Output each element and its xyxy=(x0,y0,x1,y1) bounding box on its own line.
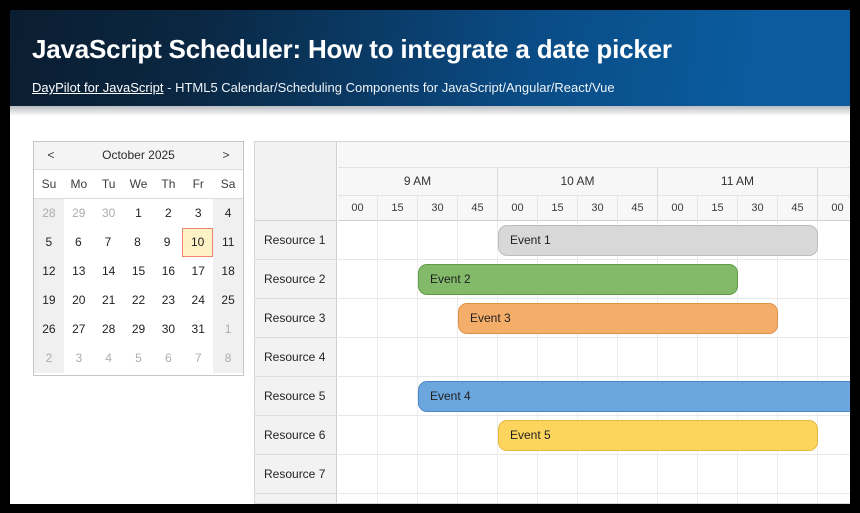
banner-separator: - xyxy=(164,80,176,95)
date-cell-selected[interactable]: 10 xyxy=(182,228,214,257)
scheduler-event[interactable]: Event 1 xyxy=(498,225,818,256)
next-month-icon[interactable]: > xyxy=(213,142,239,168)
date-cell[interactable]: 4 xyxy=(213,199,243,228)
date-cell[interactable]: 7 xyxy=(183,344,213,373)
date-cell[interactable]: 29 xyxy=(124,315,154,344)
date-cell[interactable]: 20 xyxy=(64,286,94,315)
time-header-minutes: 00153045001530450015304500 xyxy=(338,196,850,221)
minute-header-cell: 00 xyxy=(818,196,850,221)
resource-row-header[interactable]: Resource 7 xyxy=(255,455,336,494)
date-cell[interactable]: 24 xyxy=(183,286,213,315)
minute-header-cell: 15 xyxy=(378,196,418,221)
date-cell[interactable]: 27 xyxy=(64,315,94,344)
day-name-th: Th xyxy=(153,170,183,198)
minute-header-cell: 15 xyxy=(698,196,738,221)
date-cell[interactable]: 21 xyxy=(94,286,124,315)
date-cell[interactable]: 29 xyxy=(64,199,94,228)
scheduler[interactable]: 9 AM10 AM11 AM 0015304500153045001530450… xyxy=(254,141,850,504)
minute-header-cell: 45 xyxy=(778,196,818,221)
date-picker-week: 2627282930311 xyxy=(34,315,243,344)
scheduler-row[interactable] xyxy=(338,338,850,377)
scheduler-grid[interactable]: Event 1Event 2Event 3Event 4Event 5 xyxy=(338,221,850,504)
date-cell[interactable]: 12 xyxy=(34,257,64,286)
date-picker-week: 567891011 xyxy=(34,228,243,257)
minute-header-cell: 00 xyxy=(658,196,698,221)
screenshot-root: JavaScript Scheduler: How to integrate a… xyxy=(0,0,860,513)
date-picker-day-names: SuMoTuWeThFrSa xyxy=(34,170,243,199)
scheduler-row[interactable]: Event 2 xyxy=(338,260,850,299)
day-name-sa: Sa xyxy=(213,170,243,198)
scheduler-row[interactable]: Event 3 xyxy=(338,299,850,338)
date-cell[interactable]: 30 xyxy=(94,199,124,228)
date-cell[interactable]: 2 xyxy=(34,344,64,373)
date-cell[interactable]: 2 xyxy=(153,199,183,228)
minute-header-cell: 00 xyxy=(498,196,538,221)
resource-row-header[interactable]: Resource 6 xyxy=(255,416,336,455)
resource-column[interactable]: Resource 1Resource 2Resource 3Resource 4… xyxy=(255,221,337,504)
date-cell[interactable]: 30 xyxy=(153,315,183,344)
date-cell[interactable]: 16 xyxy=(153,257,183,286)
date-picker-week: 2829301234 xyxy=(34,199,243,228)
scheduler-event[interactable]: Event 2 xyxy=(418,264,738,295)
scheduler-row[interactable] xyxy=(338,455,850,494)
date-cell[interactable]: 5 xyxy=(124,344,154,373)
date-cell[interactable]: 22 xyxy=(124,286,154,315)
date-picker-navbar: October 2025 < > xyxy=(34,142,243,170)
date-cell[interactable]: 1 xyxy=(213,315,243,344)
day-name-mo: Mo xyxy=(64,170,94,198)
date-cell[interactable]: 14 xyxy=(94,257,124,286)
page-surface: JavaScript Scheduler: How to integrate a… xyxy=(10,10,850,504)
date-picker-week: 19202122232425 xyxy=(34,286,243,315)
date-cell[interactable]: 26 xyxy=(34,315,64,344)
date-cell[interactable]: 23 xyxy=(153,286,183,315)
daypilot-link[interactable]: DayPilot for JavaScript xyxy=(32,80,164,95)
prev-month-icon[interactable]: < xyxy=(38,142,64,168)
scheduler-event[interactable]: Event 3 xyxy=(458,303,778,334)
scheduler-event[interactable]: Event 5 xyxy=(498,420,818,451)
scheduler-row[interactable]: Event 5 xyxy=(338,416,850,455)
minute-header-cell: 15 xyxy=(538,196,578,221)
date-cell[interactable]: 15 xyxy=(124,257,154,286)
scheduler-corner-cell xyxy=(255,142,337,221)
resource-row-header[interactable]: Resource 1 xyxy=(255,221,336,260)
date-cell[interactable]: 3 xyxy=(64,344,94,373)
date-cell[interactable]: 25 xyxy=(213,286,243,315)
time-header-top-row xyxy=(338,142,850,168)
grid-lines xyxy=(338,455,850,493)
date-cell[interactable]: 8 xyxy=(123,228,153,257)
scheduler-time-header: 9 AM10 AM11 AM 0015304500153045001530450… xyxy=(338,142,850,221)
hour-header-cell: 11 AM xyxy=(658,168,818,196)
hour-header-cell-partial xyxy=(818,168,850,196)
day-name-fr: Fr xyxy=(183,170,213,198)
date-cell[interactable]: 28 xyxy=(34,199,64,228)
scheduler-row[interactable]: Event 4 xyxy=(338,377,850,416)
minute-header-cell: 30 xyxy=(418,196,458,221)
date-picker-grid[interactable]: 2829301234567891011121314151617181920212… xyxy=(34,199,243,373)
banner-subtitle-row: DayPilot for JavaScript - HTML5 Calendar… xyxy=(32,80,615,95)
banner-shadow xyxy=(10,106,850,116)
date-cell[interactable]: 3 xyxy=(183,199,213,228)
day-name-su: Su xyxy=(34,170,64,198)
day-name-tu: Tu xyxy=(94,170,124,198)
resource-row-header[interactable]: Resource 2 xyxy=(255,260,336,299)
resource-row-header[interactable]: Resource 3 xyxy=(255,299,336,338)
banner-subtitle-text: HTML5 Calendar/Scheduling Components for… xyxy=(175,80,615,95)
page-banner: JavaScript Scheduler: How to integrate a… xyxy=(10,10,850,106)
hour-header-cell: 9 AM xyxy=(338,168,498,196)
resource-row-header[interactable]: Resource 4 xyxy=(255,338,336,377)
date-cell[interactable]: 9 xyxy=(152,228,182,257)
date-cell[interactable]: 19 xyxy=(34,286,64,315)
date-cell[interactable]: 7 xyxy=(93,228,123,257)
date-picker-month-label: October 2025 xyxy=(34,142,243,168)
date-cell[interactable]: 18 xyxy=(213,257,243,286)
date-cell[interactable]: 31 xyxy=(183,315,213,344)
date-cell[interactable]: 6 xyxy=(153,344,183,373)
date-cell[interactable]: 8 xyxy=(213,344,243,373)
date-cell[interactable]: 4 xyxy=(94,344,124,373)
page-title: JavaScript Scheduler: How to integrate a… xyxy=(32,34,672,65)
grid-lines xyxy=(338,338,850,376)
date-cell[interactable]: 6 xyxy=(64,228,94,257)
minute-header-cell: 45 xyxy=(618,196,658,221)
time-header-hours: 9 AM10 AM11 AM xyxy=(338,168,850,196)
scheduler-bottom-edge xyxy=(255,503,850,504)
resource-row-header[interactable]: Resource 5 xyxy=(255,377,336,416)
scheduler-event[interactable]: Event 4 xyxy=(418,381,850,412)
date-picker-week: 12131415161718 xyxy=(34,257,243,286)
date-cell[interactable]: 1 xyxy=(124,199,154,228)
date-cell[interactable]: 13 xyxy=(64,257,94,286)
date-cell[interactable]: 5 xyxy=(34,228,64,257)
minute-header-cell: 30 xyxy=(738,196,778,221)
date-cell[interactable]: 28 xyxy=(94,315,124,344)
date-cell[interactable]: 17 xyxy=(183,257,213,286)
scheduler-row[interactable]: Event 1 xyxy=(338,221,850,260)
date-picker[interactable]: October 2025 < > SuMoTuWeThFrSa 28293012… xyxy=(33,141,244,376)
date-picker-week: 2345678 xyxy=(34,344,243,373)
minute-header-cell: 30 xyxy=(578,196,618,221)
date-cell[interactable]: 11 xyxy=(213,228,243,257)
minute-header-cell: 00 xyxy=(338,196,378,221)
hour-header-cell: 10 AM xyxy=(498,168,658,196)
day-name-we: We xyxy=(124,170,154,198)
minute-header-cell: 45 xyxy=(458,196,498,221)
